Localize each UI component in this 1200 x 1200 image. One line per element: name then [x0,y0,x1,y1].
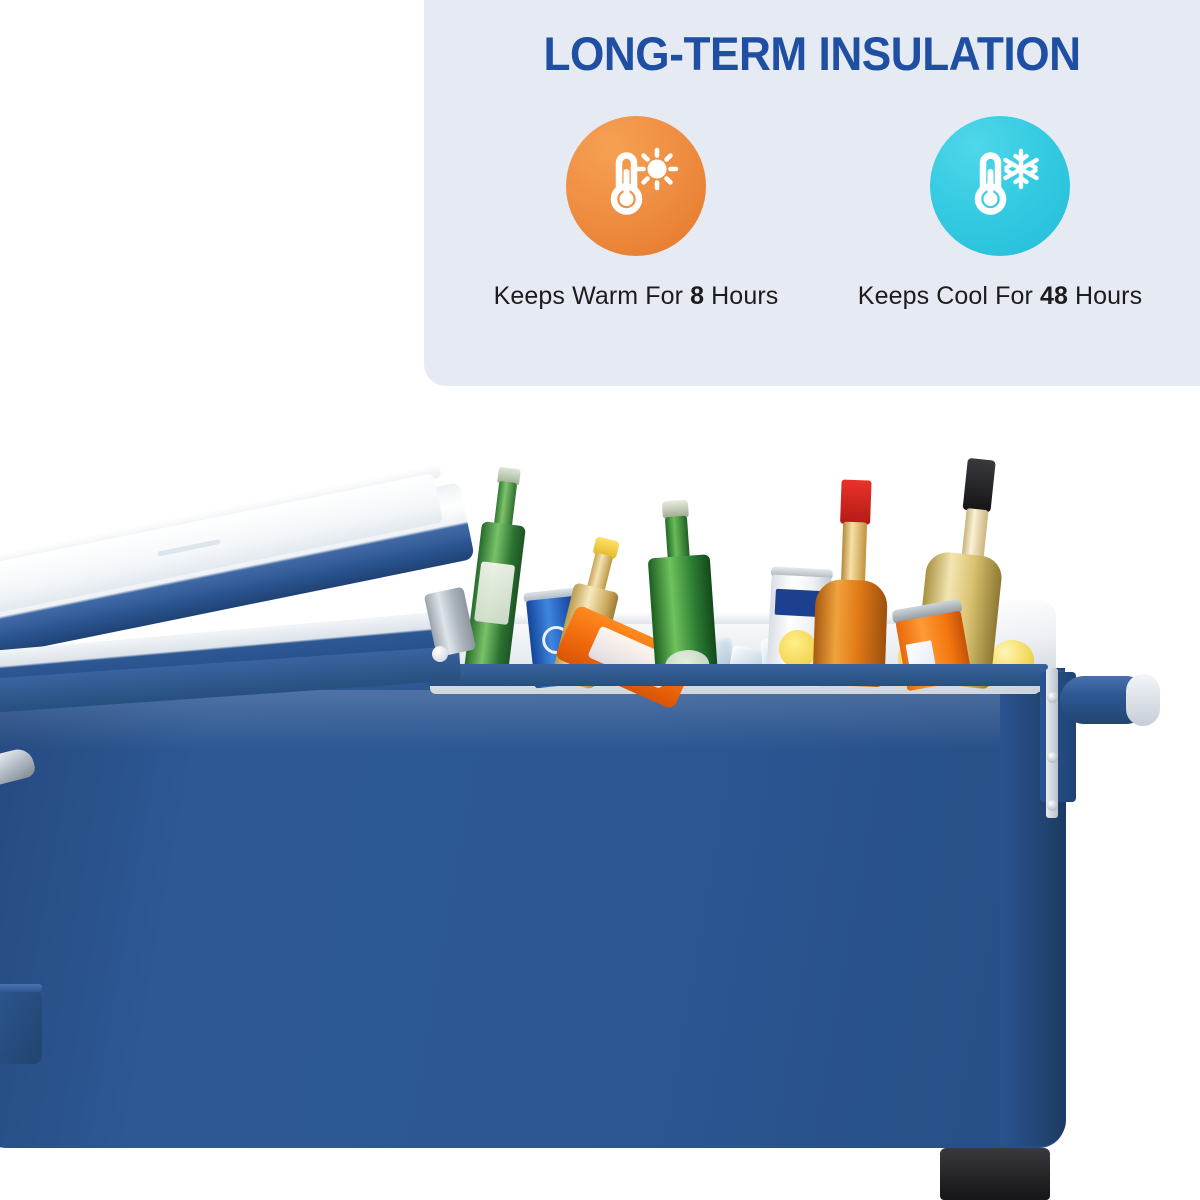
side-handle-bolt [1047,752,1058,763]
left-handle-bracket [0,990,42,1064]
warm-caption-prefix: Keeps Warm For [494,282,690,310]
amber-liquor-bottle [808,479,895,688]
lid-hinge-pin [432,646,448,662]
feature-list: Keeps Warm For 8 Hours [454,116,1182,311]
warm-caption: Keeps Warm For 8 Hours [494,282,779,311]
cool-caption: Keeps Cool For 48 Hours [858,282,1142,311]
cool-caption-prefix: Keeps Cool For [858,282,1040,310]
side-handle-mount-plate [1046,668,1058,818]
warm-caption-suffix: Hours [704,282,778,310]
warm-badge [566,116,706,256]
side-handle-end-cap [1126,674,1160,726]
cool-caption-suffix: Hours [1068,282,1142,310]
feature-keeps-cool: Keeps Cool For 48 Hours [835,116,1165,311]
cooler-leg [940,1148,1050,1200]
thermometer-snowflake-icon [957,143,1043,229]
side-handle-bolt [1047,800,1058,811]
thermometer-sun-icon [593,143,679,229]
cool-badge [930,116,1070,256]
cooler-front-rim [428,664,1048,686]
page-title: LONG-TERM INSULATION [447,26,1176,81]
feature-keeps-warm: Keeps Warm For 8 Hours [471,116,801,311]
side-handle-bolt [1047,692,1058,703]
insulation-info-panel: LONG-TERM INSULATION [424,0,1200,386]
warm-hours-value: 8 [690,282,704,310]
cool-hours-value: 48 [1040,282,1068,310]
green-bottle-large [642,498,728,683]
